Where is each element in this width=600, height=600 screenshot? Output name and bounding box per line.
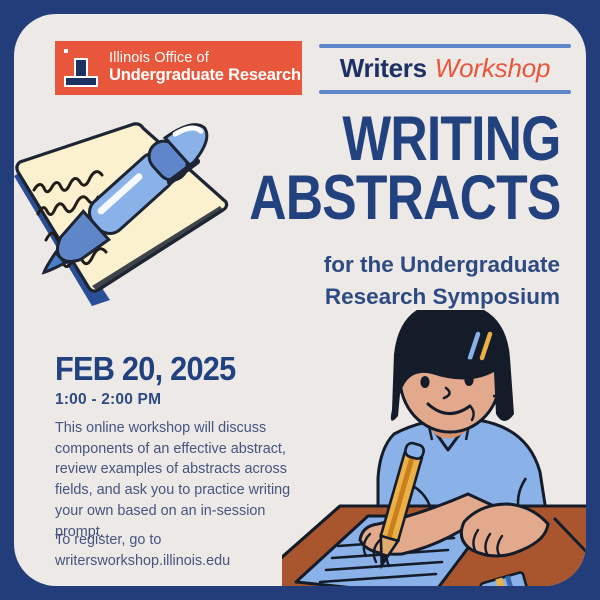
- logo-line-1: Illinois Office of: [109, 51, 301, 67]
- registration-url[interactable]: writersworkshop.illinois.edu: [55, 553, 230, 569]
- rule-bottom: [319, 90, 571, 94]
- series-word-workshop: Workshop: [435, 53, 550, 84]
- illinois-office-logo: Illinois Office of Undergraduate Researc…: [55, 41, 302, 95]
- series-word-writers: Writers: [340, 53, 427, 84]
- event-time: 1:00 - 2:00 PM: [55, 391, 161, 409]
- registration-label: To register, go to: [55, 532, 161, 548]
- subtitle-line-2: Research Symposium: [324, 281, 560, 313]
- page-title: WRITING ABSTRACTS: [181, 110, 561, 227]
- registration-info: To register, go to writersworkshop.illin…: [55, 530, 305, 571]
- event-description: This online workshop will discuss compon…: [55, 418, 301, 542]
- event-date: FEB 20, 2025: [55, 350, 235, 388]
- logo-line-2: Undergraduate Research: [109, 67, 301, 85]
- headline-line-2: ABSTRACTS: [249, 169, 560, 228]
- series-header: Writers Workshop: [319, 44, 571, 94]
- block-i-icon: [64, 49, 98, 87]
- poster-card: Illinois Office of Undergraduate Researc…: [14, 14, 586, 586]
- subtitle-line-1: for the Undergraduate: [324, 249, 560, 281]
- person-writing-at-desk-illustration: [282, 310, 586, 586]
- headline-line-1: WRITING: [249, 110, 560, 169]
- poster: Illinois Office of Undergraduate Researc…: [0, 0, 600, 600]
- page-subtitle: for the Undergraduate Research Symposium: [324, 249, 560, 313]
